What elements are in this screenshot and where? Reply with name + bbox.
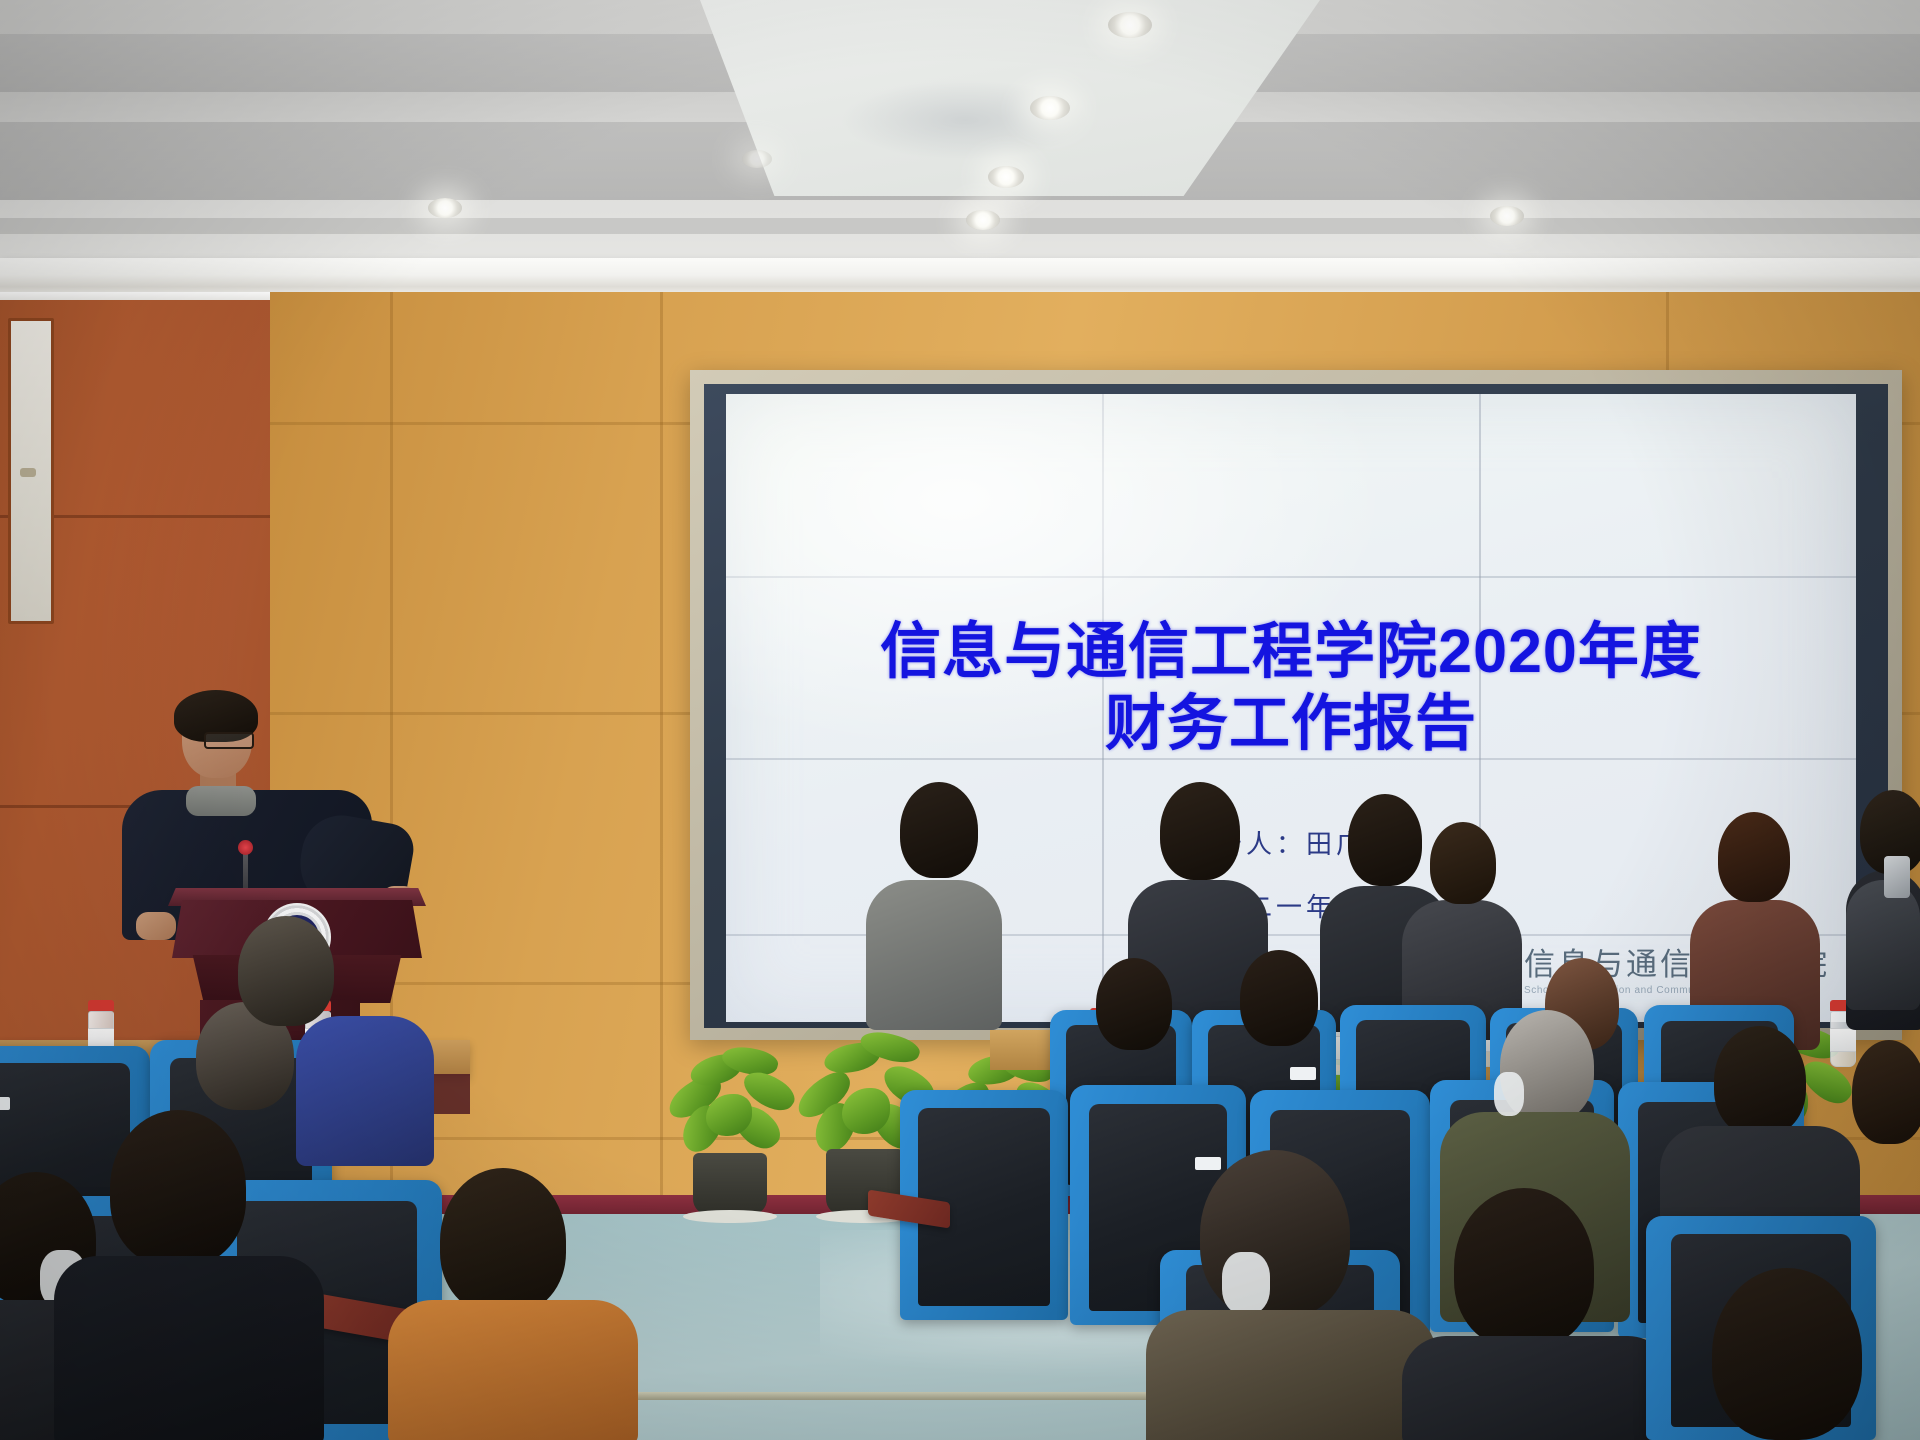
ceiling-downlight-icon xyxy=(1490,206,1524,226)
audience-head xyxy=(1714,1026,1806,1136)
microphone-icon xyxy=(238,840,253,855)
potted-plant xyxy=(660,1040,800,1215)
slide-title-line-2: 财务工作报告 xyxy=(726,688,1856,760)
audience-person xyxy=(388,1300,638,1440)
audience-person xyxy=(1402,1336,1672,1440)
door-handle xyxy=(20,468,36,477)
auditorium-photo: 信息与通信工程学院2020年度 财务工作报告 报告人：田广和 二〇二一年三月 信… xyxy=(0,0,1920,1440)
ceiling-downlight-icon xyxy=(1030,96,1070,120)
slide-title-line-1: 信息与通信工程学院2020年度 xyxy=(726,616,1856,688)
ceiling-downlight-icon xyxy=(988,166,1024,188)
phone-icon xyxy=(1884,856,1910,898)
audience-head xyxy=(1096,958,1172,1050)
audience-person xyxy=(54,1256,324,1440)
audience-person xyxy=(296,1016,434,1166)
audience-head xyxy=(1712,1268,1862,1440)
audience-person xyxy=(1146,1310,1436,1440)
audience-head xyxy=(238,916,334,1026)
slide-presenter: 报告人：田广和 xyxy=(726,824,1856,861)
ceiling-downlight-icon xyxy=(966,210,1000,230)
speaker-collar xyxy=(186,786,256,816)
audience-head xyxy=(1240,950,1318,1046)
speaker-left-hand xyxy=(136,912,176,940)
face-mask xyxy=(1494,1072,1524,1116)
audience-head xyxy=(900,782,978,878)
ceiling-downlight-icon xyxy=(1108,12,1152,38)
ceiling xyxy=(0,0,1920,300)
audience-head xyxy=(1852,1040,1920,1144)
slide-title: 信息与通信工程学院2020年度 财务工作报告 xyxy=(726,616,1856,760)
audience-head xyxy=(440,1168,566,1314)
face-mask xyxy=(1222,1252,1270,1314)
audience-person-with-phone xyxy=(1846,880,1920,1010)
audience-head xyxy=(1348,794,1422,886)
ceiling-downlight-icon xyxy=(742,150,772,168)
ceiling-downlight-icon xyxy=(428,198,462,218)
speaker-glasses-icon xyxy=(204,732,254,749)
audience-person xyxy=(866,880,1002,1030)
ceiling-band xyxy=(0,218,1920,234)
audience-head xyxy=(1718,812,1790,902)
audience-head xyxy=(1454,1188,1594,1348)
audience-head xyxy=(1160,782,1240,880)
audience-head xyxy=(1430,822,1496,904)
audience-head xyxy=(110,1110,246,1266)
